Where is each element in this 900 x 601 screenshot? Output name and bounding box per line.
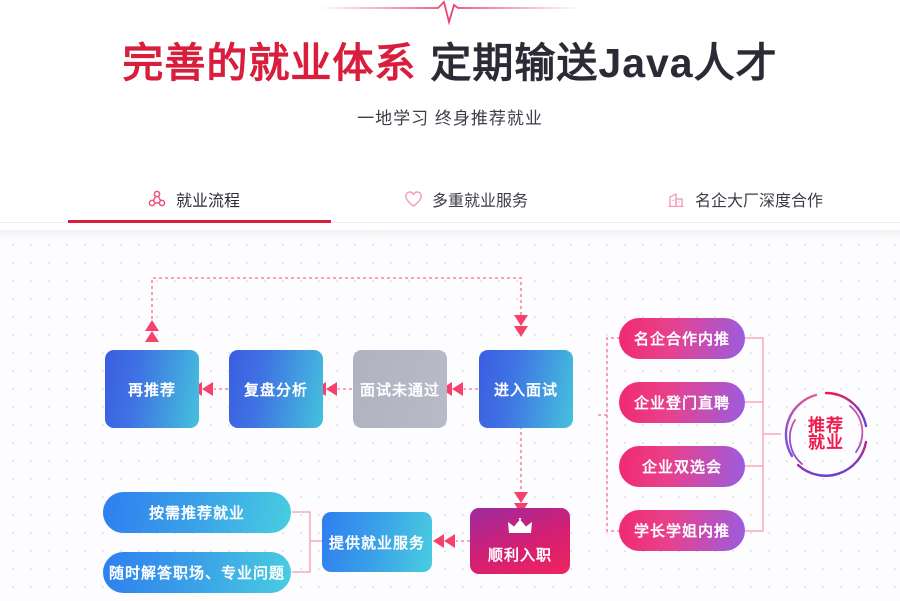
node-label: 顺利入职: [488, 544, 552, 565]
recommend-employment-badge: 推荐 就业: [778, 386, 874, 482]
node-label: 学长学姐内推: [634, 520, 730, 541]
badge-line-1: 推荐: [808, 417, 844, 434]
employment-flow-diagram: 再推荐 复盘分析 面试未通过 进入面试 名企合作内推 企业登门直聘 企业双选会 …: [0, 230, 900, 601]
flow-node-enter-interview[interactable]: 进入面试: [479, 350, 573, 428]
tab-employment-process[interactable]: 就业流程: [147, 176, 240, 222]
heartbeat-line-icon: [0, 0, 900, 26]
tab-enterprise-cooperation[interactable]: 名企大厂深度合作: [666, 176, 823, 222]
badge-line-2: 就业: [808, 434, 844, 451]
node-label: 企业双选会: [642, 456, 722, 477]
flow-node-interview-failed[interactable]: 面试未通过: [353, 350, 447, 428]
page-title: 完善的就业体系定期输送Java人才: [0, 38, 900, 88]
tab-label: 名企大厂深度合作: [695, 187, 823, 211]
tab-active-indicator: [68, 220, 331, 223]
page-title-primary: 完善的就业体系: [122, 40, 416, 86]
channel-node-enterprise-referral[interactable]: 名企合作内推: [619, 318, 745, 359]
node-label: 再推荐: [128, 379, 176, 400]
heart-icon: [403, 189, 423, 209]
node-label: 进入面试: [494, 379, 558, 400]
tab-label: 多重就业服务: [432, 187, 528, 211]
page-subtitle: 一地学习 终身推荐就业: [0, 104, 900, 129]
crown-icon: [507, 518, 533, 539]
flow-node-successful-onboarding[interactable]: 顺利入职: [470, 508, 570, 574]
node-label: 名企合作内推: [634, 328, 730, 349]
employment-system-page: 完善的就业体系定期输送Java人才 一地学习 终身推荐就业 就业流程: [0, 0, 900, 601]
tab-bar: 就业流程 多重就业服务: [0, 176, 900, 230]
node-label: 复盘分析: [244, 379, 308, 400]
tab-label: 就业流程: [176, 187, 240, 211]
network-triangle-icon: [147, 189, 167, 209]
node-label: 面试未通过: [360, 379, 440, 400]
channel-node-alumni-referral[interactable]: 学长学姐内推: [619, 510, 745, 551]
node-label: 按需推荐就业: [149, 502, 245, 523]
flow-node-re-recommend[interactable]: 再推荐: [105, 350, 199, 428]
node-label: 企业登门直聘: [634, 392, 730, 413]
node-label: 提供就业服务: [329, 532, 425, 553]
tab-multi-employment-services[interactable]: 多重就业服务: [403, 176, 528, 222]
service-node-on-demand-recommendation[interactable]: 按需推荐就业: [103, 492, 291, 533]
flow-node-review-analysis[interactable]: 复盘分析: [229, 350, 323, 428]
building-icon: [666, 189, 686, 209]
service-node-qa-support[interactable]: 随时解答职场、专业问题: [103, 552, 291, 593]
flow-node-employment-service[interactable]: 提供就业服务: [322, 512, 432, 572]
channel-node-onsite-recruiting[interactable]: 企业登门直聘: [619, 382, 745, 423]
page-header: 完善的就业体系定期输送Java人才 一地学习 终身推荐就业 就业流程: [0, 0, 900, 230]
channel-node-job-fair[interactable]: 企业双选会: [619, 446, 745, 487]
page-title-secondary: 定期输送Java人才: [430, 40, 777, 86]
node-label: 随时解答职场、专业问题: [109, 562, 285, 583]
